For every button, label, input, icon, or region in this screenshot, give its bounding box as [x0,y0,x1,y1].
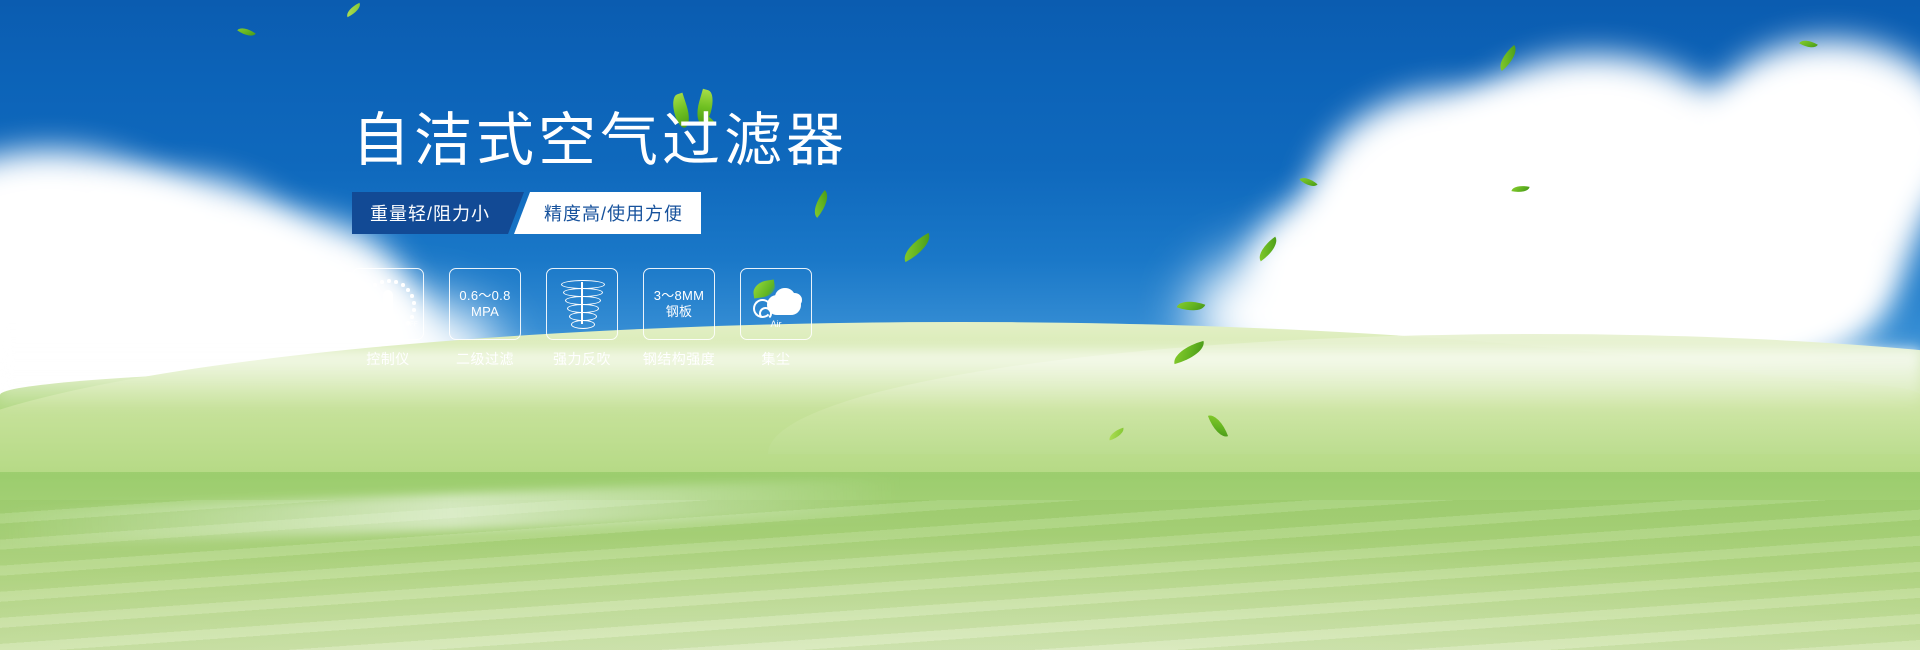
feature-list: NO OFF 控制仪 0.6～0.8 MPA 二级过滤 [352,268,812,369]
gauge-needle [383,290,393,320]
feature-item-controller[interactable]: NO OFF 控制仪 [352,268,424,369]
feature-item-dust-collection[interactable]: Air 集尘 [740,268,812,369]
steel-value-line1: 3～8MM [654,288,705,304]
feature-icon-box: NO OFF [352,268,424,340]
subtitle-left: 重量轻/阻力小 [352,192,524,234]
feature-label: 钢结构强度 [643,349,716,369]
feature-icon-box [546,268,618,340]
gauge-label-no: NO [359,308,369,314]
feature-label: 集尘 [762,349,791,369]
feature-item-two-stage-filter[interactable]: 0.6～0.8 MPA 二级过滤 [449,268,521,369]
feature-label: 强力反吹 [553,349,611,369]
coil-filter-icon [559,279,605,329]
page-title: 自洁式空气过滤器 [352,112,848,170]
gauge-label-off: OFF [405,322,418,328]
feature-label: 二级过滤 [456,349,514,369]
pressure-value-line1: 0.6～0.8 [459,288,510,304]
pressure-value-line2: MPA [471,304,499,320]
gauge-icon: NO OFF [360,278,416,330]
feature-icon-box: 3～8MM 钢板 [643,268,715,340]
subtitle-right: 精度高/使用方便 [514,192,701,234]
hero-content: 自洁式空气过滤器 重量轻/阻力小 精度高/使用方便 [0,0,1920,650]
air-label: Air [749,319,803,329]
steel-value-line2: 钢板 [666,304,693,320]
feature-item-steel-strength[interactable]: 3～8MM 钢板 钢结构强度 [643,268,715,369]
feature-label: 控制仪 [366,349,410,369]
subtitle-bar: 重量轻/阻力小 精度高/使用方便 [352,192,701,234]
feature-icon-box: 0.6～0.8 MPA [449,268,521,340]
feature-icon-box: Air [740,268,812,340]
product-hero-banner: 自洁式空气过滤器 重量轻/阻力小 精度高/使用方便 [0,0,1920,650]
feature-item-strong-blowback[interactable]: 强力反吹 [546,268,618,369]
air-cloud-icon: Air [749,281,803,327]
